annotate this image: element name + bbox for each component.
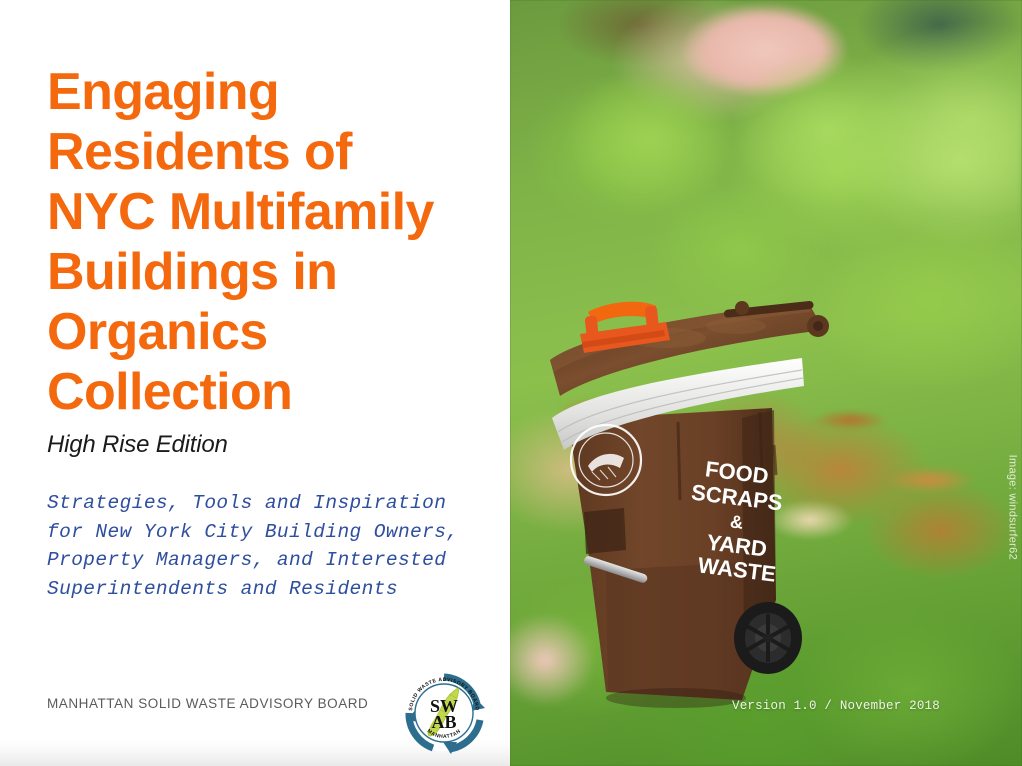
title-block: Engaging Residents of NYC Multifamily Bu… [47, 62, 477, 460]
organics-bin: FOOD SCRAPS & YARD WASTE [546, 300, 846, 720]
image-credit: Image: windsurfer62 [1006, 455, 1018, 560]
bin-label-line-3: & [729, 511, 744, 532]
organization-name: MANHATTAN SOLID WASTE ADVISORY BOARD [47, 696, 368, 711]
cover-page: Engaging Residents of NYC Multifamily Bu… [0, 0, 1022, 766]
page-title: Engaging Residents of NYC Multifamily Bu… [47, 62, 477, 422]
logo-initials-bottom: AB [431, 712, 456, 732]
left-text-panel: Engaging Residents of NYC Multifamily Bu… [0, 0, 510, 766]
version-text: Version 1.0 / November 2018 [732, 699, 940, 713]
cover-photo: FOOD SCRAPS & YARD WASTE [510, 0, 1022, 766]
tagline-text: Strategies, Tools and Inspiration for Ne… [47, 489, 477, 603]
edition-subtitle: High Rise Edition [47, 430, 477, 460]
swab-logo: SOLID WASTE ADVISORY BOARD MANHATTAN SW … [399, 668, 489, 758]
